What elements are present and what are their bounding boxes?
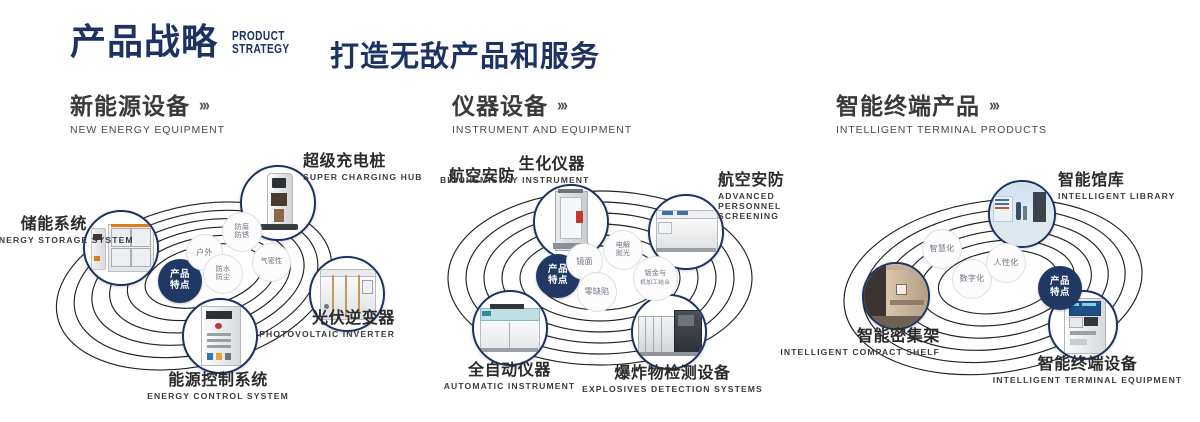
section-heading-cn: 新能源设备	[70, 94, 190, 119]
poster-title-en-line1: PRODUCT	[232, 29, 290, 43]
feature-bubble-anti-corrosion: 防腐 防锈	[222, 212, 262, 252]
poster-title-cn: 产品战略	[70, 24, 218, 60]
feature-bubble-humanized: 人性化	[986, 243, 1026, 283]
chevron-right-icon: ›››	[557, 97, 566, 116]
chevron-right-icon: ›››	[199, 97, 208, 116]
node-photo-intelligent-compact-shelf[interactable]	[862, 262, 930, 330]
feature-bubble-sheetmetal-machining: 钣金与 机加工结合	[633, 256, 678, 301]
section-heading-cn: 智能终端产品	[836, 94, 980, 119]
node-caption-intelligent-compact-shelf: 智能密集架 INTELLIGENT COMPACT SHELF	[770, 328, 940, 358]
section-heading-cn: 仪器设备	[452, 94, 548, 119]
node-photo-automatic-instrument[interactable]	[472, 290, 548, 366]
section-heading-intelligent-terminal: 智能终端产品 ››› INTELLIGENT TERMINAL PRODUCTS	[836, 94, 1047, 136]
node-photo-intelligent-library[interactable]	[988, 180, 1056, 248]
chevron-right-icon: ›››	[989, 97, 998, 116]
center-badge-product-features: 产品 特点	[1038, 266, 1082, 310]
node-photo-energy-control-system[interactable]	[182, 298, 258, 374]
diagram-new-energy: 储能系统 ENERGY STORAGE SYSTEM 超级充电桩 SUPER C…	[0, 150, 400, 415]
node-photo-energy-storage[interactable]	[83, 210, 159, 286]
section-heading-en: INSTRUMENT AND EQUIPMENT	[452, 124, 632, 136]
poster-title-en-line2: STRATEGY	[232, 42, 290, 56]
node-caption-energy-control-system: 能源控制系统 ENERGY CONTROL SYSTEM	[88, 372, 348, 402]
feature-bubble-zero-defect: 零缺陷	[577, 272, 617, 312]
node-photo-explosives-detection[interactable]	[631, 294, 707, 370]
feature-bubble-airtightness: 气密性	[252, 243, 291, 282]
node-caption-biochemistry-instrument: 生化仪器 BIOCHEMISTRY INSTRUMENT	[440, 156, 585, 186]
node-caption-intelligent-library: 智能馆库 INTELLIGENT LIBRARY	[1058, 172, 1176, 202]
section-heading-instrument: 仪器设备 ››› INSTRUMENT AND EQUIPMENT	[452, 94, 632, 136]
node-caption-explosives-detection: 爆炸物检测设备 EXPLOSIVES DETECTION SYSTEMS	[555, 365, 790, 395]
node-caption-energy-storage: 储能系统 ENERGY STORAGE SYSTEM	[0, 216, 87, 246]
poster-subtitle: 打造无敌产品和服务	[330, 33, 600, 75]
feature-bubble-intelligent: 智慧化	[922, 229, 962, 269]
poster-root: 产品战略 PRODUCT STRATEGY 打造无敌产品和服务 新能源设备 ››…	[0, 0, 1200, 422]
feature-bubble-waterproof-dustproof: 防水 防尘	[203, 254, 243, 294]
node-caption-intelligent-terminal-equipment: 智能终端设备 INTELLIGENT TERMINAL EQUIPMENT	[980, 356, 1195, 386]
section-heading-en: INTELLIGENT TERMINAL PRODUCTS	[836, 124, 1047, 136]
section-heading-en: NEW ENERGY EQUIPMENT	[70, 124, 225, 136]
poster-title-en: PRODUCT STRATEGY	[232, 29, 290, 60]
diagram-instrument: 航空安防 生化仪器 BIOCHEMISTRY INSTRUMENT 航空安防 A…	[400, 150, 800, 415]
poster-header: 产品战略 PRODUCT STRATEGY	[70, 24, 306, 60]
section-heading-new-energy: 新能源设备 ››› NEW ENERGY EQUIPMENT	[70, 94, 225, 136]
diagram-intelligent-terminal: 智能馆库 INTELLIGENT LIBRARY 智能密集架 INTELLIGE…	[790, 150, 1200, 415]
